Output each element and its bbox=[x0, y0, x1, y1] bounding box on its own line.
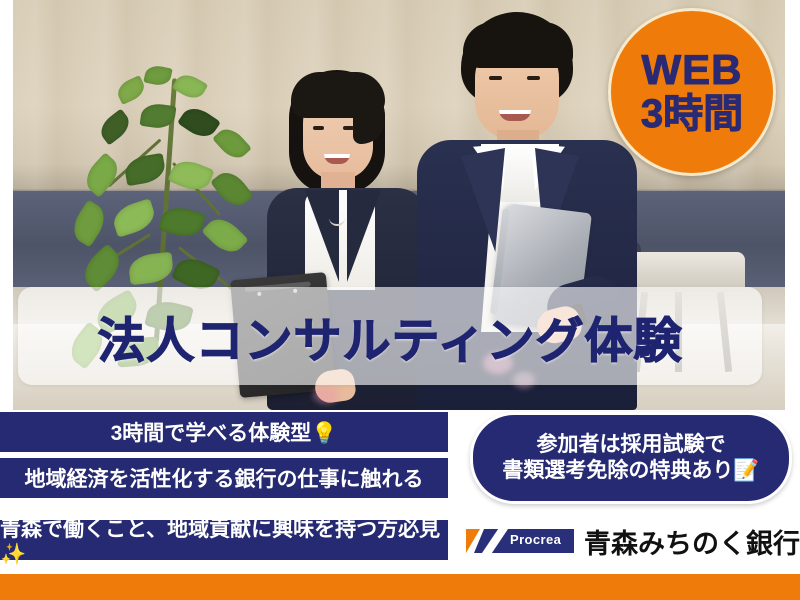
plant-leaf bbox=[172, 70, 208, 103]
feature-bar-2: 地域経済を活性化する銀行の仕事に触れる bbox=[0, 458, 448, 498]
page-title: 法人コンサルティング体験 bbox=[97, 301, 682, 371]
badge-line-1: WEB bbox=[642, 49, 743, 91]
procrea-logo-icon: Procrea bbox=[466, 527, 574, 555]
man-fringe bbox=[463, 22, 573, 68]
feature-bar-3-text: 青森で働くこと、地域貢献に興味を持つ方必見✨ bbox=[0, 513, 448, 567]
feature-bar-1: 3時間で学べる体験型💡 bbox=[0, 412, 448, 452]
petal-bokeh bbox=[313, 386, 339, 404]
web-duration-badge: WEB 3時間 bbox=[608, 8, 776, 176]
plant-leaf bbox=[128, 252, 175, 285]
plant-leaf bbox=[67, 199, 111, 247]
plant-leaf bbox=[110, 198, 159, 238]
plant-leaf bbox=[123, 153, 167, 187]
woman-eye-right bbox=[343, 126, 354, 130]
perk-pill-line-1: 参加者は採用試験で bbox=[537, 432, 726, 458]
plant-leaf bbox=[210, 166, 254, 212]
chair-seat bbox=[625, 252, 745, 292]
feature-bar-2-text: 地域経済を活性化する銀行の仕事に触れる bbox=[25, 463, 424, 493]
man-eye-right bbox=[527, 76, 540, 80]
feature-bar-1-text: 3時間で学べる体験型💡 bbox=[111, 417, 338, 447]
bank-logo: Procrea 青森みちのく銀行 bbox=[466, 520, 800, 562]
man-eye-left bbox=[489, 76, 502, 80]
perk-pill-line-2: 書類選考免除の特典あり📝 bbox=[502, 458, 759, 484]
feature-bar-3: 青森で働くこと、地域貢献に興味を持つ方必見✨ bbox=[0, 520, 448, 560]
title-band: 法人コンサルティング体験 bbox=[18, 287, 762, 385]
woman-eye-left bbox=[313, 126, 324, 130]
plant-leaf bbox=[143, 64, 172, 88]
plant-leaf bbox=[212, 123, 252, 164]
procrea-wordmark: Procrea bbox=[510, 532, 561, 547]
perk-pill: 参加者は採用試験で 書類選考免除の特典あり📝 bbox=[470, 412, 792, 504]
poster-root: WEB 3時間 法人コンサルティング体験 3時間で学べる体験型💡 地域経済を活性… bbox=[0, 0, 800, 600]
plant-leaf bbox=[96, 108, 135, 145]
bank-name: 青森みちのく銀行 bbox=[584, 522, 800, 561]
footer-orange-bar bbox=[0, 574, 800, 600]
badge-line-2: 3時間 bbox=[641, 93, 743, 135]
plant-leaf bbox=[201, 212, 249, 259]
